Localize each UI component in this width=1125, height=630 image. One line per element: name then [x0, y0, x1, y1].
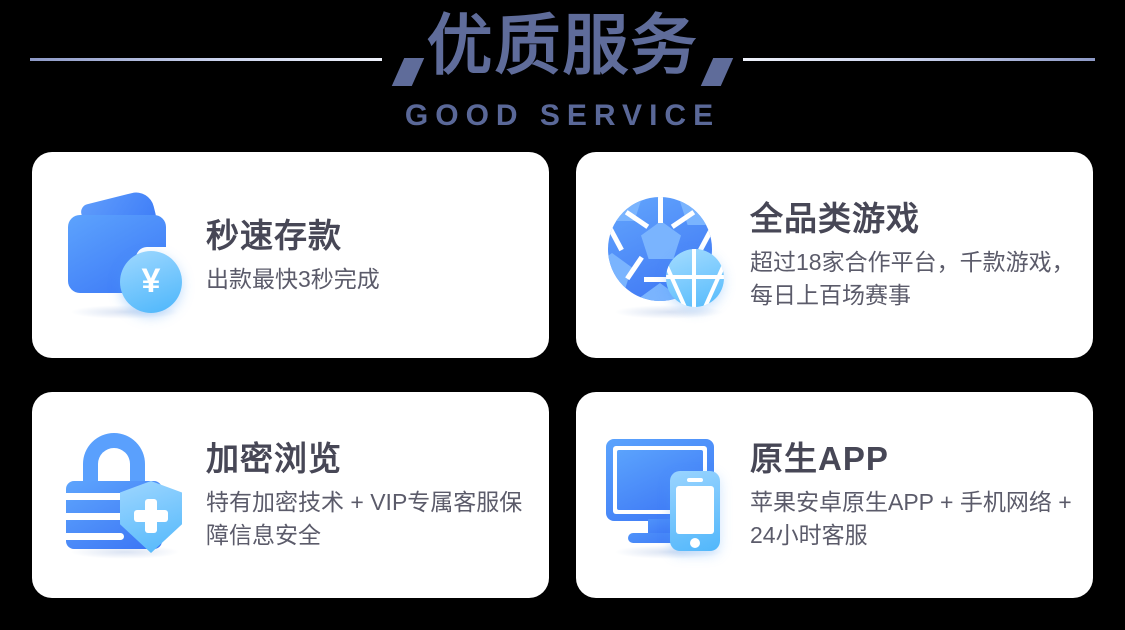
- yen-coin-icon: ¥: [120, 251, 182, 313]
- page-subtitle: GOOD SERVICE: [0, 98, 1125, 134]
- card-subtitle: 出款最快3秒完成: [206, 263, 535, 296]
- feature-card-native-app[interactable]: 原生APP 苹果安卓原生APP + 手机网络 + 24小时客服: [576, 392, 1093, 598]
- monitor-phone-icon: [604, 429, 736, 561]
- basketball-icon: [666, 249, 724, 307]
- yen-symbol: ¥: [120, 251, 182, 313]
- phone-speaker: [687, 478, 703, 482]
- card-title: 加密浏览: [206, 438, 535, 480]
- card-subtitle: 超过18家合作平台，千款游戏，每日上百场赛事: [750, 246, 1079, 312]
- feature-card-encrypted-browsing[interactable]: 加密浏览 特有加密技术 + VIP专属客服保障信息安全: [32, 392, 549, 598]
- card-text-block: 全品类游戏 超过18家合作平台，千款游戏，每日上百场赛事: [736, 198, 1093, 312]
- card-title: 全品类游戏: [750, 198, 1079, 240]
- card-title: 秒速存款: [206, 215, 535, 257]
- feature-card-instant-deposit[interactable]: ¥ 秒速存款 出款最快3秒完成: [32, 152, 549, 358]
- wallet-icon: ¥: [60, 189, 192, 321]
- feature-card-all-category-games[interactable]: 全品类游戏 超过18家合作平台，千款游戏，每日上百场赛事: [576, 152, 1093, 358]
- phone-screen: [676, 486, 714, 534]
- page-header: 优质服务 GOOD SERVICE: [0, 0, 1125, 150]
- card-title: 原生APP: [750, 438, 1079, 480]
- lock-shield-icon: [60, 429, 192, 561]
- card-text-block: 秒速存款 出款最快3秒完成: [192, 215, 549, 296]
- soccer-basketball-icon: [604, 189, 736, 321]
- card-text-block: 加密浏览 特有加密技术 + VIP专属客服保障信息安全: [192, 438, 549, 552]
- cross-icon: [134, 510, 168, 522]
- phone-home-button: [690, 538, 700, 548]
- card-text-block: 原生APP 苹果安卓原生APP + 手机网络 + 24小时客服: [736, 438, 1093, 552]
- card-subtitle: 特有加密技术 + VIP专属客服保障信息安全: [206, 486, 535, 552]
- card-subtitle: 苹果安卓原生APP + 手机网络 + 24小时客服: [750, 486, 1079, 552]
- page-title: 优质服务: [0, 5, 1125, 85]
- feature-card-grid: ¥ 秒速存款 出款最快3秒完成: [32, 152, 1093, 598]
- phone-icon: [670, 471, 720, 551]
- icon-shadow: [614, 305, 724, 319]
